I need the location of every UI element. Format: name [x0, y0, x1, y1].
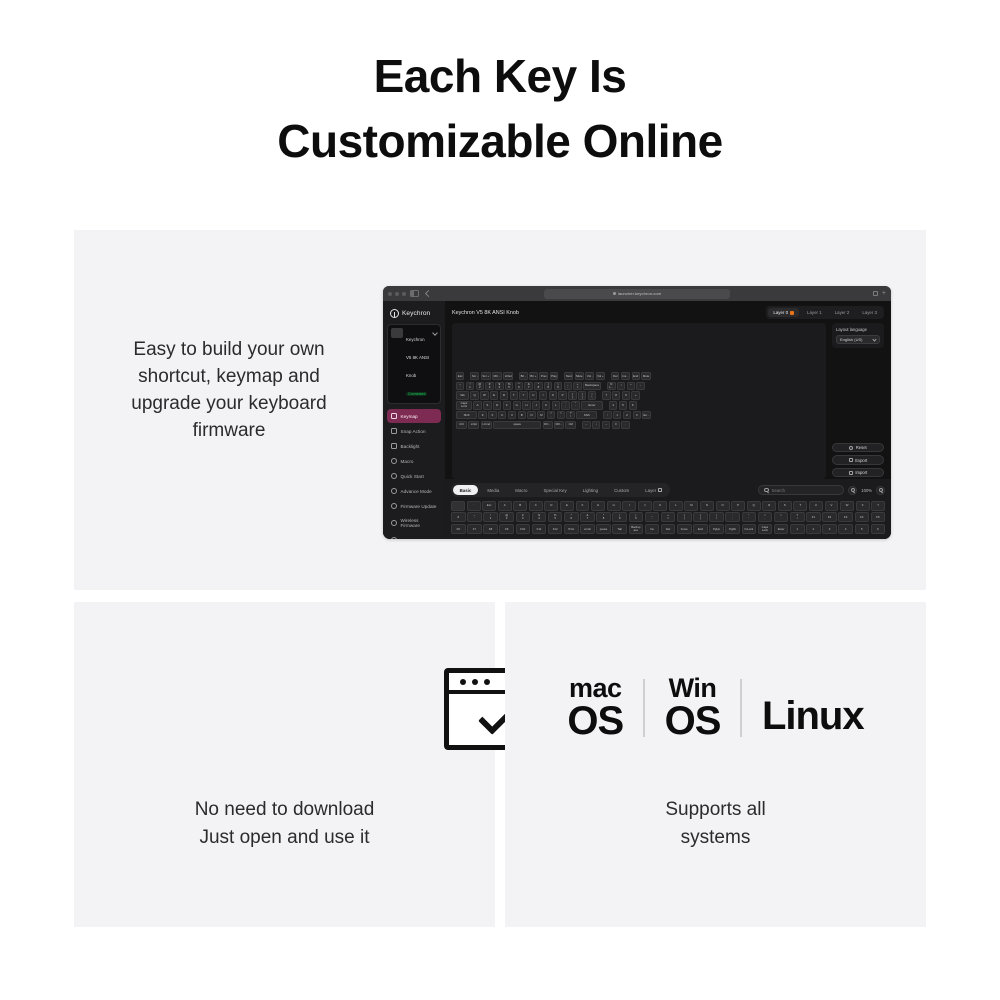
tab-lighting[interactable]: Lighting — [576, 485, 605, 495]
keyboard-key[interactable]: "' — [571, 401, 579, 409]
palette-key[interactable]: (9 — [612, 512, 627, 522]
keyboard-key[interactable]: Vol - — [585, 372, 594, 380]
share-icon[interactable] — [873, 291, 878, 296]
keyboard-key[interactable]: W — [480, 391, 488, 399]
palette-key[interactable]: S — [778, 501, 792, 511]
keyboard-key[interactable]: 5 — [619, 401, 627, 409]
tab-label: Layer — [645, 488, 656, 493]
palette-key[interactable]: 5 — [855, 524, 870, 534]
layer-tab-layer-0[interactable]: Layer 0 — [768, 308, 799, 317]
keyboard-key[interactable]: }] — [578, 391, 586, 399]
sidebar-item-label: Snap Action — [401, 429, 426, 434]
palette-key[interactable]: 2 — [806, 524, 821, 534]
keyboard-key[interactable]: X — [488, 411, 496, 419]
search-input[interactable]: Search — [758, 485, 844, 495]
keyboard-key[interactable]: J — [532, 401, 540, 409]
palette-key[interactable]: Backspace — [629, 524, 644, 534]
sidebar-item-label: Quick Start — [401, 474, 424, 479]
sidebar-item-wireless-firmware[interactable]: Wireless Firmware — [387, 514, 441, 532]
palette-key[interactable]: @2 — [499, 512, 514, 522]
keyboard-key[interactable]: 1 — [613, 411, 621, 419]
palette-key[interactable]: Q — [747, 501, 761, 511]
layout-language-card: Layout language English (US) — [832, 323, 884, 348]
dot-icon — [472, 679, 478, 685]
keyboard-key[interactable]: K — [542, 401, 550, 409]
tab-macro[interactable]: Macro — [508, 485, 534, 495]
palette-key[interactable]: >. — [774, 512, 789, 522]
keyboard-key[interactable]: _- — [564, 382, 572, 390]
quick-start-icon — [391, 473, 397, 479]
keyboard-key[interactable]: O — [549, 391, 557, 399]
palette-key[interactable]: F10 — [516, 524, 531, 534]
keychron-logo-icon — [390, 309, 399, 318]
sidebar-item-label: Macro — [401, 459, 414, 464]
keyboard-key[interactable]: S — [483, 401, 491, 409]
palette-key[interactable]: 4 — [838, 524, 853, 534]
keyboard-key[interactable]: ↓ — [592, 421, 600, 429]
palette-key[interactable]: ` — [467, 501, 481, 511]
palette-key[interactable]: }] — [693, 512, 708, 522]
keyboard-key[interactable]: RO... — [554, 421, 564, 429]
keyboard-key[interactable]: Tab — [456, 391, 469, 399]
keyboard-key[interactable]: Q — [470, 391, 478, 399]
keyboard-key[interactable]: Ctrl — [565, 421, 576, 429]
tab-custom[interactable]: Custom — [607, 485, 636, 495]
tab-layer[interactable]: Layer — [638, 485, 668, 495]
button-label: Reset — [856, 445, 867, 450]
palette-key[interactable]: F4 — [855, 512, 870, 522]
keyboard-key[interactable]: Ins... — [621, 372, 630, 380]
keyboard-key[interactable]: A — [473, 401, 481, 409]
palette-key[interactable]: C — [529, 501, 543, 511]
palette-key[interactable]: F8 — [483, 524, 498, 534]
page-title: Each Key Is Customizable Online — [0, 44, 1000, 175]
sidebar-item-label: Key Test — [401, 538, 419, 540]
sidebar-item-quick-start[interactable]: Quick Start — [387, 469, 441, 483]
keyboard-key[interactable]: 8 — [612, 391, 620, 399]
keyboard-key[interactable]: MC... — [492, 372, 502, 380]
palette-key[interactable]: F9 — [499, 524, 514, 534]
keyboard-key[interactable]: * — [627, 382, 635, 390]
palette-key[interactable]: Del — [661, 524, 676, 534]
keyboard-key[interactable]: Bri - — [519, 372, 527, 380]
launcher-app-body: Keychron Keychron V5 8K ANSI Knob Connec… — [383, 301, 891, 539]
palette-row: Z~`!1@2#3$4%5^6&7*8(9)0_-+={[}]|\:;"'<,>… — [451, 512, 885, 522]
keyboard-row: TabQWERTYUIOP{[}]|\789+ — [456, 391, 822, 399]
zoom-out-button[interactable] — [876, 486, 885, 495]
keyboard-key[interactable]: E — [490, 391, 498, 399]
keyboard-key[interactable]: @2 — [476, 382, 484, 390]
layer-tab-layer-2[interactable]: Layer 2 — [830, 308, 855, 317]
palette-key[interactable]: $4 — [532, 512, 547, 522]
palette-key[interactable]: N.Lock — [742, 524, 757, 534]
tab-label: Lighting — [583, 488, 598, 493]
address-bar[interactable]: launcher.keychron.com — [544, 289, 730, 299]
layer-tab-label: Layer 3 — [862, 310, 877, 315]
sidebar-toggle-icon[interactable] — [410, 290, 419, 297]
palette-key[interactable]: "' — [742, 512, 757, 522]
brand-name: Keychron — [402, 310, 430, 317]
palette-key[interactable]: 3 — [822, 524, 837, 534]
layer-tab-label: Layer 1 — [807, 310, 822, 315]
keyboard-key[interactable]: {[ — [568, 391, 576, 399]
feature-copy-left: Easy to build your own shortcut, keymap … — [104, 336, 354, 445]
keyboard-key[interactable]: <, — [547, 411, 555, 419]
keyboard-key[interactable]: LPad — [503, 372, 513, 380]
palette-key[interactable]: F11 — [532, 524, 547, 534]
keyboard-key[interactable]: Ctrl — [456, 421, 467, 429]
keyboard-key[interactable]: 2 — [623, 411, 631, 419]
zoom-dot-icon[interactable] — [402, 292, 406, 296]
caption-bl-line-1: No need to download — [195, 799, 375, 820]
palette-key[interactable]: Esc — [482, 501, 496, 511]
headline-line-2: Customizable Online — [0, 109, 1000, 174]
keyboard-key[interactable]: &7 — [524, 382, 532, 390]
keyboard-key[interactable]: Shift — [576, 411, 597, 419]
palette-key[interactable]: B — [513, 501, 527, 511]
tab-label: Special Key — [543, 488, 566, 493]
import-button[interactable]: Import — [832, 468, 884, 478]
palette-key[interactable]: 6 — [871, 524, 886, 534]
palette-tabs: BasicMediaMacroSpecial KeyLightingCustom… — [451, 483, 670, 496]
key-gap — [515, 372, 518, 380]
keyboard-key[interactable]: Del — [611, 372, 619, 380]
keyboard-key[interactable]: *8 — [534, 382, 542, 390]
palette-key[interactable]: += — [661, 512, 676, 522]
palette-key[interactable]: W — [840, 501, 854, 511]
button-label: Import — [855, 470, 867, 475]
keyboard-key[interactable]: D — [493, 401, 501, 409]
palette-key[interactable]: !1 — [483, 512, 498, 522]
keyboard-key[interactable]: :; — [561, 401, 569, 409]
keyboard-key[interactable]: #3 — [485, 382, 493, 390]
keyboard-key[interactable]: - — [636, 382, 644, 390]
keyboard-key[interactable]: Play — [550, 372, 559, 380]
palette-key[interactable]: O — [716, 501, 730, 511]
palette-key[interactable]: PgUp — [709, 524, 724, 534]
palette-key[interactable]: #3 — [516, 512, 531, 522]
new-tab-icon[interactable]: + — [882, 290, 886, 297]
keyboard-key[interactable]: + — [631, 391, 639, 399]
keyboard-key[interactable]: → — [602, 421, 610, 429]
keyboard-key[interactable]: B — [518, 411, 526, 419]
palette-key[interactable]: &7 — [580, 512, 595, 522]
keyboard-row: Caps LockASDFGHJKL:;"'Enter456 — [456, 401, 822, 409]
keyboard-key[interactable]: ~` — [456, 382, 464, 390]
sidebar-item-snap-action[interactable]: Snap Action — [387, 424, 441, 438]
divider — [643, 679, 645, 737]
firmware-update-icon — [391, 503, 397, 509]
keyboard-key[interactable]: LOpt — [468, 421, 479, 429]
key-gap — [560, 372, 563, 380]
sidebar-item-key-test[interactable]: Key Test — [387, 533, 441, 539]
keyboard-key[interactable]: )0 — [554, 382, 562, 390]
palette-key[interactable]: M — [684, 501, 698, 511]
keyboard-row: CtrlLOptLCmdspaceRC...RO...Ctrl←↓→0. — [456, 421, 822, 429]
keyboard-key[interactable]: 4 — [609, 401, 617, 409]
page-root: Each Key Is Customizable Online Easy to … — [0, 0, 1000, 1000]
keyboard-key[interactable]: 9 — [622, 391, 630, 399]
dot-icon — [484, 679, 490, 685]
palette-key[interactable]: End — [693, 524, 708, 534]
keyboard-key[interactable]: V — [508, 411, 516, 419]
tab-media[interactable]: Media — [480, 485, 506, 495]
keyboard-key[interactable]: Vol + — [596, 372, 606, 380]
palette-key[interactable]: F — [576, 501, 590, 511]
palette-key[interactable]: *8 — [596, 512, 611, 522]
keyboard-key[interactable]: ?/ — [566, 411, 574, 419]
palette-row: `EscABCDEFGHIJKLMNOPQRSTUVWXY — [451, 501, 885, 511]
palette-key[interactable]: Tab — [612, 524, 627, 534]
device-selector-card[interactable]: Keychron V5 8K ANSI Knob Connected — [387, 324, 441, 404]
keyboard-key[interactable]: . — [621, 421, 629, 429]
palette-key[interactable]: F6 — [451, 524, 466, 534]
keyboard-key[interactable]: Bri + — [529, 372, 538, 380]
keyboard-key[interactable]: !1 — [466, 382, 474, 390]
brand-logo: Keychron — [387, 305, 441, 324]
keyboard-key[interactable]: Scr + — [481, 372, 491, 380]
browser-window-mockup: launcher.keychron.com + Keychron Keychro… — [383, 286, 891, 539]
chevron-down-icon — [872, 337, 876, 341]
keyboard-key[interactable]: End — [632, 372, 640, 380]
keyboard-key[interactable]: T — [510, 391, 518, 399]
sidebar-item-macro[interactable]: Macro — [387, 454, 441, 468]
keyboard-key[interactable]: Z — [478, 411, 486, 419]
keyboard-key[interactable]: space — [493, 421, 541, 429]
keyboard-key[interactable]: Enter — [581, 401, 603, 409]
keyboard-key[interactable]: 7 — [602, 391, 610, 399]
palette-key[interactable]: T — [793, 501, 807, 511]
address-bar-url: launcher.keychron.com — [618, 291, 661, 296]
keyboard-key[interactable]: Next — [564, 372, 573, 380]
layer-indicator-icon — [790, 311, 794, 315]
keyboard-key[interactable]: F — [503, 401, 511, 409]
sidebar-item-keymap[interactable]: Keymap — [387, 409, 441, 423]
palette-key[interactable]: F7 — [467, 524, 482, 534]
palette-key[interactable]: F12 — [548, 524, 563, 534]
keyboard-key[interactable]: Esc — [456, 372, 464, 380]
palette-key[interactable]: CapsLock — [758, 524, 773, 534]
keyboard-key[interactable]: I — [539, 391, 547, 399]
layout-language-label: Layout language — [836, 327, 880, 332]
keyboard-key[interactable]: Mute — [641, 372, 650, 380]
sidebar-item-advance-mode[interactable]: Advance Mode — [387, 484, 441, 498]
chrome-right-controls[interactable]: + — [873, 290, 886, 297]
layer-tab-label: Layer 2 — [835, 310, 850, 315]
keyboard-key[interactable]: C — [498, 411, 506, 419]
keyboard-key[interactable]: N L... — [607, 382, 615, 390]
layout-language-select[interactable]: English (US) — [836, 335, 880, 344]
export-icon — [849, 458, 853, 462]
palette-key[interactable]: F3 — [838, 512, 853, 522]
palette-key[interactable]: I — [622, 501, 636, 511]
sidebar-item-firmware-update[interactable]: Firmware Update — [387, 499, 441, 513]
palette-key[interactable]: G — [591, 501, 605, 511]
tab-label: Media — [487, 488, 499, 493]
palette-tools: Search 100% — [758, 485, 885, 495]
back-chevron-icon[interactable] — [425, 290, 432, 297]
keyboard-row: EscScr -Scr +MC...LPadBri -Bri +PrevPlay… — [456, 372, 822, 380]
layout-language-value: English (US) — [840, 337, 862, 342]
layer-tab-layer-1[interactable]: Layer 1 — [802, 308, 827, 317]
palette-key[interactable]: ~` — [467, 512, 482, 522]
palette-key[interactable]: E — [560, 501, 574, 511]
keyboard-key[interactable]: Scr - — [470, 372, 479, 380]
palette-key[interactable]: F2 — [822, 512, 837, 522]
keyboard-key[interactable]: En... — [642, 411, 650, 419]
keyboard-key[interactable]: Shift — [456, 411, 477, 419]
palette-key[interactable]: ^6 — [564, 512, 579, 522]
layer-tab-layer-3[interactable]: Layer 3 — [857, 308, 882, 317]
keyboard-key[interactable]: U — [529, 391, 537, 399]
keyboard-key[interactable]: N — [527, 411, 535, 419]
palette-key[interactable]: 1 — [790, 524, 805, 534]
search-placeholder: Search — [772, 488, 785, 493]
keyboard-key[interactable]: %5 — [505, 382, 513, 390]
palette-key[interactable]: )0 — [629, 512, 644, 522]
palette-key[interactable]: X — [856, 501, 870, 511]
sidebar-item-label: Firmware Update — [401, 504, 437, 509]
palette-key[interactable]: :; — [725, 512, 740, 522]
window-traffic-lights[interactable] — [388, 292, 406, 296]
palette-key[interactable] — [451, 501, 465, 511]
keyboard-key[interactable]: += — [573, 382, 581, 390]
tab-basic[interactable]: Basic — [453, 485, 479, 495]
palette-key[interactable]: Ins — [645, 524, 660, 534]
sidebar-nav: KeymapSnap ActionBacklightMacroQuick Sta… — [387, 409, 441, 539]
palette-key[interactable]: F1 — [806, 512, 821, 522]
layer-tab-label: Layer 0 — [773, 310, 788, 315]
caption-br-line-1: Supports all — [665, 799, 765, 820]
macos-logo-bottom: OS — [567, 702, 623, 740]
keyboard-key[interactable]: Caps Lock — [456, 401, 472, 409]
palette-key[interactable]: _- — [645, 512, 660, 522]
keyboard-key[interactable]: 0 — [612, 421, 620, 429]
palette-key[interactable]: PgDn — [725, 524, 740, 534]
key-palette-grid[interactable]: `EscABCDEFGHIJKLMNOPQRSTUVWXYZ~`!1@2#3$4… — [451, 501, 885, 534]
device-name: Keychron V5 8K ANSI Knob — [406, 337, 429, 378]
palette-key[interactable]: <, — [758, 512, 773, 522]
keyboard-key[interactable]: M — [537, 411, 545, 419]
layout-side-panel: Layout language English (US) ResetExport… — [832, 323, 884, 479]
palette-key[interactable]: ?/ — [790, 512, 805, 522]
tab-label: Basic — [460, 488, 472, 493]
layer-badge-icon — [658, 488, 661, 491]
keyboard-key[interactable]: ↑ — [603, 411, 611, 419]
palette-key[interactable]: D — [544, 501, 558, 511]
palette-key[interactable]: %5 — [548, 512, 563, 522]
keymap-icon — [391, 413, 397, 419]
key-palette-section: BasicMediaMacroSpecial KeyLightingCustom… — [445, 479, 891, 539]
palette-key[interactable]: F5 — [871, 512, 886, 522]
export-button[interactable]: Export — [832, 455, 884, 465]
keyboard-canvas[interactable]: EscScr -Scr +MC...LPadBri -Bri +PrevPlay… — [452, 323, 826, 479]
reset-button[interactable]: Reset — [832, 443, 884, 453]
palette-key[interactable]: |\ — [709, 512, 724, 522]
keyboard-key[interactable]: P — [558, 391, 566, 399]
sidebar-item-label: Keymap — [401, 414, 418, 419]
palette-key[interactable]: {[ — [677, 512, 692, 522]
keyboard-key[interactable]: / — [617, 382, 625, 390]
keyboard-key[interactable]: ← — [582, 421, 590, 429]
layer-tabs: Layer 0Layer 1Layer 2Layer 3 — [766, 306, 884, 319]
snap-action-icon — [391, 428, 397, 434]
sidebar-item-backlight[interactable]: Backlight — [387, 439, 441, 453]
tab-special-key[interactable]: Special Key — [536, 485, 573, 495]
palette-key[interactable]: U — [809, 501, 823, 511]
palette-key[interactable]: scroll — [580, 524, 595, 534]
palette-key[interactable]: L — [669, 501, 683, 511]
feature-panel-bottom-left — [74, 602, 495, 927]
import-icon — [849, 471, 853, 475]
app-main: Keychron V5 8K ANSI Knob Layer 0Layer 1L… — [445, 301, 891, 539]
palette-key[interactable]: N — [700, 501, 714, 511]
keyboard-header: Keychron V5 8K ANSI Knob Layer 0Layer 1L… — [452, 306, 884, 319]
keyboard-key[interactable]: Y — [519, 391, 527, 399]
minimize-dot-icon[interactable] — [395, 292, 399, 296]
keyboard-key[interactable]: H — [522, 401, 530, 409]
keyboard-key[interactable]: R — [500, 391, 508, 399]
keyboard-key[interactable]: (9 — [544, 382, 552, 390]
divider — [740, 679, 742, 737]
palette-key[interactable]: Print — [564, 524, 579, 534]
keyboard-key[interactable]: $4 — [495, 382, 503, 390]
keyboard-key[interactable]: Backspace — [583, 382, 601, 390]
palette-key[interactable]: P — [731, 501, 745, 511]
winos-logo: Win OS — [665, 676, 721, 740]
headline-line-1: Each Key Is — [374, 50, 627, 102]
palette-key[interactable]: Y — [871, 501, 885, 511]
palette-key[interactable]: Z — [451, 512, 466, 522]
palette-key[interactable]: A — [498, 501, 512, 511]
device-status-badge: Connected — [406, 392, 427, 396]
palette-key[interactable]: home — [677, 524, 692, 534]
keyboard-key[interactable]: 3 — [633, 411, 641, 419]
palette-toolbar: BasicMediaMacroSpecial KeyLightingCustom… — [451, 483, 885, 496]
palette-key[interactable]: R — [762, 501, 776, 511]
os-logos: mac OS Win OS Linux — [505, 676, 926, 740]
advance-mode-icon — [391, 488, 397, 494]
palette-key[interactable]: J — [638, 501, 652, 511]
palette-key[interactable]: pause — [596, 524, 611, 534]
chevron-down-icon[interactable] — [432, 330, 438, 336]
keyboard-key[interactable]: ^6 — [515, 382, 523, 390]
caption-bottom-left: No need to download Just open and use it — [74, 796, 495, 851]
palette-key[interactable]: K — [653, 501, 667, 511]
wireless-firmware-icon — [391, 520, 397, 526]
keyboard-key[interactable]: RC... — [543, 421, 553, 429]
keyboard-key[interactable]: LCmd — [481, 421, 492, 429]
palette-key[interactable]: Enter — [774, 524, 789, 534]
app-sidebar: Keychron Keychron V5 8K ANSI Knob Connec… — [383, 301, 445, 539]
button-label: Export — [855, 458, 867, 463]
close-dot-icon[interactable] — [388, 292, 392, 296]
zoom-in-button[interactable] — [848, 486, 857, 495]
keyboard-layout[interactable]: EscScr -Scr +MC...LPadBri -Bri +PrevPlay… — [456, 372, 822, 431]
keyboard-key[interactable]: L — [552, 401, 560, 409]
reset-icon — [849, 446, 853, 450]
keyboard-key[interactable]: Mute — [575, 372, 584, 380]
keyboard-key[interactable]: 6 — [629, 401, 637, 409]
palette-key[interactable]: H — [607, 501, 621, 511]
keyboard-key[interactable]: |\ — [588, 391, 596, 399]
keyboard-key[interactable]: Prev — [539, 372, 548, 380]
tab-label: Macro — [515, 488, 527, 493]
keyboard-key[interactable]: >. — [557, 411, 565, 419]
palette-key[interactable]: V — [825, 501, 839, 511]
search-icon — [764, 488, 768, 492]
keyboard-key[interactable]: G — [513, 401, 521, 409]
